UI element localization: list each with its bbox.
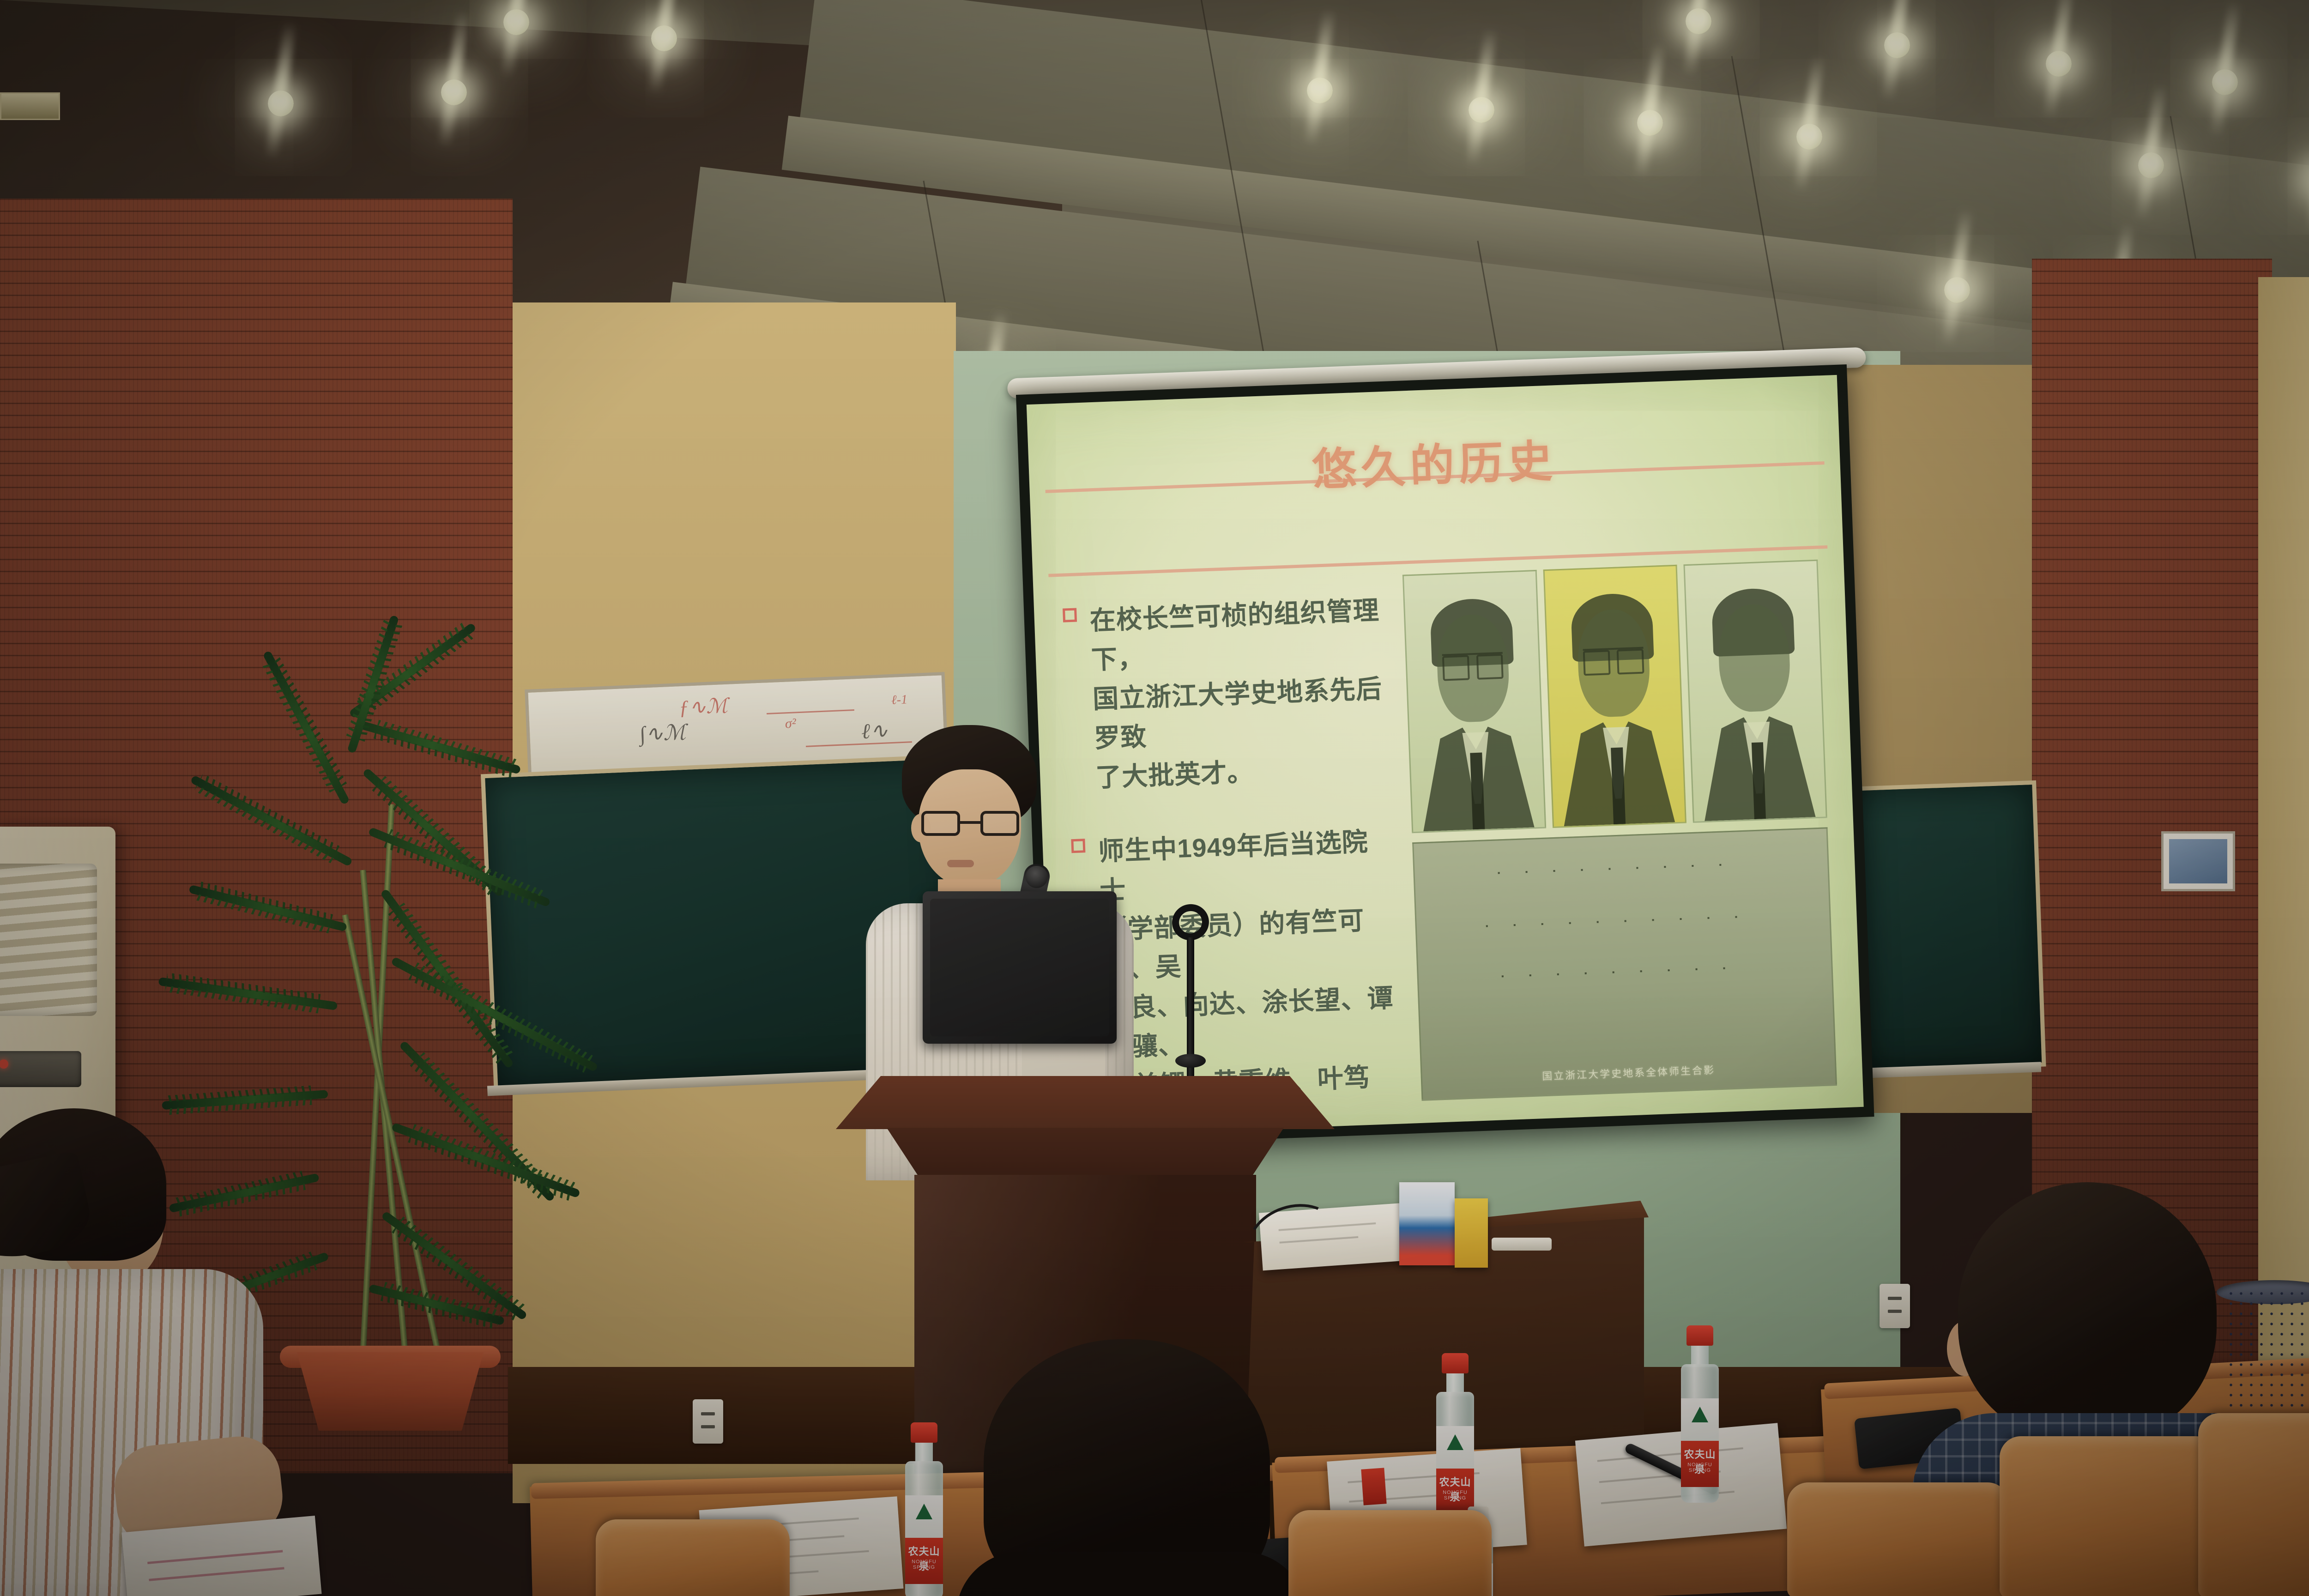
ceiling-spotlight	[651, 25, 677, 51]
glasses-icon	[1442, 652, 1504, 677]
attendee-left	[0, 1108, 323, 1596]
palm-frond	[188, 885, 347, 932]
ceiling-spotlight	[1944, 277, 1970, 303]
group-photo-person	[1499, 875, 1522, 876]
bullet-square-icon	[1063, 608, 1077, 623]
group-photo-person	[1641, 973, 1664, 974]
palm-frond	[359, 720, 521, 774]
water-bottle-1[interactable]: 农夫山泉 NONGFU SPRING	[905, 1422, 943, 1596]
group-photo-person	[1554, 873, 1578, 874]
group-photo-row	[1419, 967, 1831, 982]
group-photo-person	[1736, 919, 1759, 920]
ceiling-spotlight	[1469, 97, 1494, 123]
palm-frond	[162, 1090, 328, 1110]
group-photo-person	[1542, 926, 1566, 927]
red-card-marker	[1361, 1468, 1386, 1505]
ceiling-spotlight	[2212, 69, 2238, 95]
podium-neck	[887, 1128, 1284, 1176]
projector-remote[interactable]	[1492, 1238, 1552, 1251]
group-photo-person	[1638, 870, 1661, 871]
power-outlet-center	[1880, 1284, 1910, 1328]
presenter-mouth	[947, 860, 974, 867]
group-photo-person	[1681, 921, 1704, 922]
chair-front-left[interactable]	[596, 1519, 790, 1596]
bottle-body: 农夫山泉 NONGFU SPRING	[905, 1461, 943, 1596]
ceiling-spotlight	[1637, 110, 1663, 136]
water-bottle-2[interactable]: 农夫山泉 NONGFU SPRING	[1436, 1353, 1474, 1530]
whiteboard-note-3: σ²	[785, 716, 796, 732]
slide-portrait-strip	[1402, 560, 1827, 834]
microphone-base	[1175, 1054, 1206, 1068]
whiteboard-note-1: ƒ∿ℳ	[678, 694, 728, 719]
ceiling-exit-light-icon	[0, 92, 60, 120]
projected-slide: 悠久的历史 在校长竺可桢的组织管理下， 国立浙江大学史地系先后罗致 了大批英才。	[1027, 375, 1864, 1137]
wall-notice	[2161, 831, 2235, 891]
group-photo-person	[1653, 922, 1676, 923]
paper-line	[148, 1550, 283, 1564]
ceiling-spotlight	[1686, 8, 1711, 34]
slide-portrait-2	[1543, 565, 1686, 828]
bottle-body: 农夫山泉 NONGFU SPRING	[1681, 1364, 1719, 1503]
group-photo-person	[1530, 977, 1553, 978]
glasses-icon	[921, 811, 1019, 836]
group-photo-row	[1415, 864, 1827, 879]
whiteboard-note-5: ℓ-1	[891, 692, 907, 707]
paper-line	[1597, 1447, 1743, 1462]
slide-portrait-3	[1684, 560, 1827, 823]
podium-top	[836, 1076, 1335, 1129]
bottle-cap	[911, 1422, 937, 1443]
power-outlet-left	[693, 1399, 723, 1444]
group-photo-person	[1503, 978, 1526, 979]
group-photo-person	[1693, 868, 1716, 869]
lecture-hall-photo: ƒ∿ℳ ∫∿ℳ σ² ℓ∿ ℓ-1 悠久的历史 在校长竺可桢的组织管理下，	[0, 0, 2309, 1596]
palm-frond	[158, 977, 338, 1010]
glasses-icon	[1583, 647, 1644, 672]
group-photo-person	[1709, 920, 1732, 921]
nongfu-spring-logo-icon	[916, 1504, 932, 1519]
group-photo-person	[1721, 867, 1744, 868]
projection-screen-frame: 悠久的历史 在校长竺可桢的组织管理下， 国立浙江大学史地系先后罗致 了大批英才。	[1016, 364, 1874, 1147]
group-photo-person	[1586, 975, 1609, 976]
group-photo-person	[1570, 925, 1593, 926]
bottle-neck	[1446, 1373, 1464, 1392]
ac-control-panel[interactable]	[0, 1051, 81, 1087]
group-photo-person	[1558, 976, 1581, 977]
nongfu-spring-logo-icon	[1447, 1434, 1463, 1450]
group-photo-person	[1669, 972, 1692, 973]
bottle-neck	[915, 1443, 933, 1461]
bottle-cap	[1686, 1325, 1713, 1346]
group-photo-person	[1626, 923, 1649, 924]
chair-right-1[interactable]	[2000, 1436, 2217, 1596]
bottle-neck	[1691, 1346, 1709, 1364]
group-photo-person	[1724, 970, 1747, 971]
group-photo-person	[1515, 927, 1538, 928]
chair-front-right[interactable]	[1787, 1482, 2009, 1596]
ceiling-spotlight	[1796, 124, 1822, 150]
group-photo-person	[1582, 872, 1605, 873]
chair-right-2[interactable]	[2198, 1413, 2309, 1596]
tissue-box	[1399, 1182, 1455, 1265]
projection-screen-assembly: 悠久的历史 在校长竺可桢的组织管理下， 国立浙江大学史地系先后罗致 了大批英才。	[1016, 364, 1874, 1147]
ac-vent-louvers	[0, 864, 97, 1016]
slide-group-photo: 国立浙江大学史地系全体师生合影	[1412, 827, 1837, 1101]
ceiling-spotlight	[268, 91, 294, 116]
group-photo-person	[1665, 869, 1688, 870]
bottle-brand-en: NONGFU SPRING	[1681, 1462, 1719, 1473]
ceiling-spotlight	[1884, 32, 1910, 58]
paper-line	[149, 1567, 284, 1582]
attendee-right-hair	[1958, 1182, 2217, 1441]
group-photo-person	[1598, 924, 1621, 925]
slide-title: 悠久的历史	[1028, 415, 1841, 508]
water-bottle-3[interactable]: 农夫山泉 NONGFU SPRING	[1681, 1325, 1719, 1503]
group-photo-person	[1614, 974, 1637, 975]
slide-portrait-1	[1402, 570, 1546, 833]
ceiling-spotlight	[1307, 78, 1333, 103]
bottle-brand-en: NONGFU SPRING	[905, 1559, 943, 1570]
yellow-carton	[1455, 1198, 1488, 1268]
podium-monitor[interactable]	[923, 891, 1117, 1044]
group-photo-person	[1527, 874, 1550, 875]
ceiling-spotlight	[441, 79, 467, 105]
nongfu-spring-logo-icon	[1692, 1407, 1708, 1422]
bottle-cap	[1442, 1353, 1469, 1373]
monitor-screen	[930, 899, 1109, 1036]
group-photo-row	[1417, 916, 1829, 931]
group-photo-person	[1610, 871, 1633, 872]
attendee-front	[984, 1339, 1270, 1596]
ceiling-spotlight	[2046, 51, 2072, 77]
group-photo-person	[1487, 928, 1510, 929]
palm-frond	[368, 827, 551, 907]
chair-front-center[interactable]	[1288, 1510, 1492, 1596]
attendee-front-shoulder	[956, 1552, 1307, 1596]
group-photo-caption: 国立浙江大学史地系全体师生合影	[1443, 1058, 1814, 1087]
wall-notice-image	[2169, 839, 2227, 883]
group-photo-person	[1697, 971, 1720, 972]
bottle-brand-en: NONGFU SPRING	[1436, 1490, 1474, 1501]
ceiling-spotlight	[503, 9, 529, 35]
ceiling-spotlight	[2138, 152, 2164, 178]
